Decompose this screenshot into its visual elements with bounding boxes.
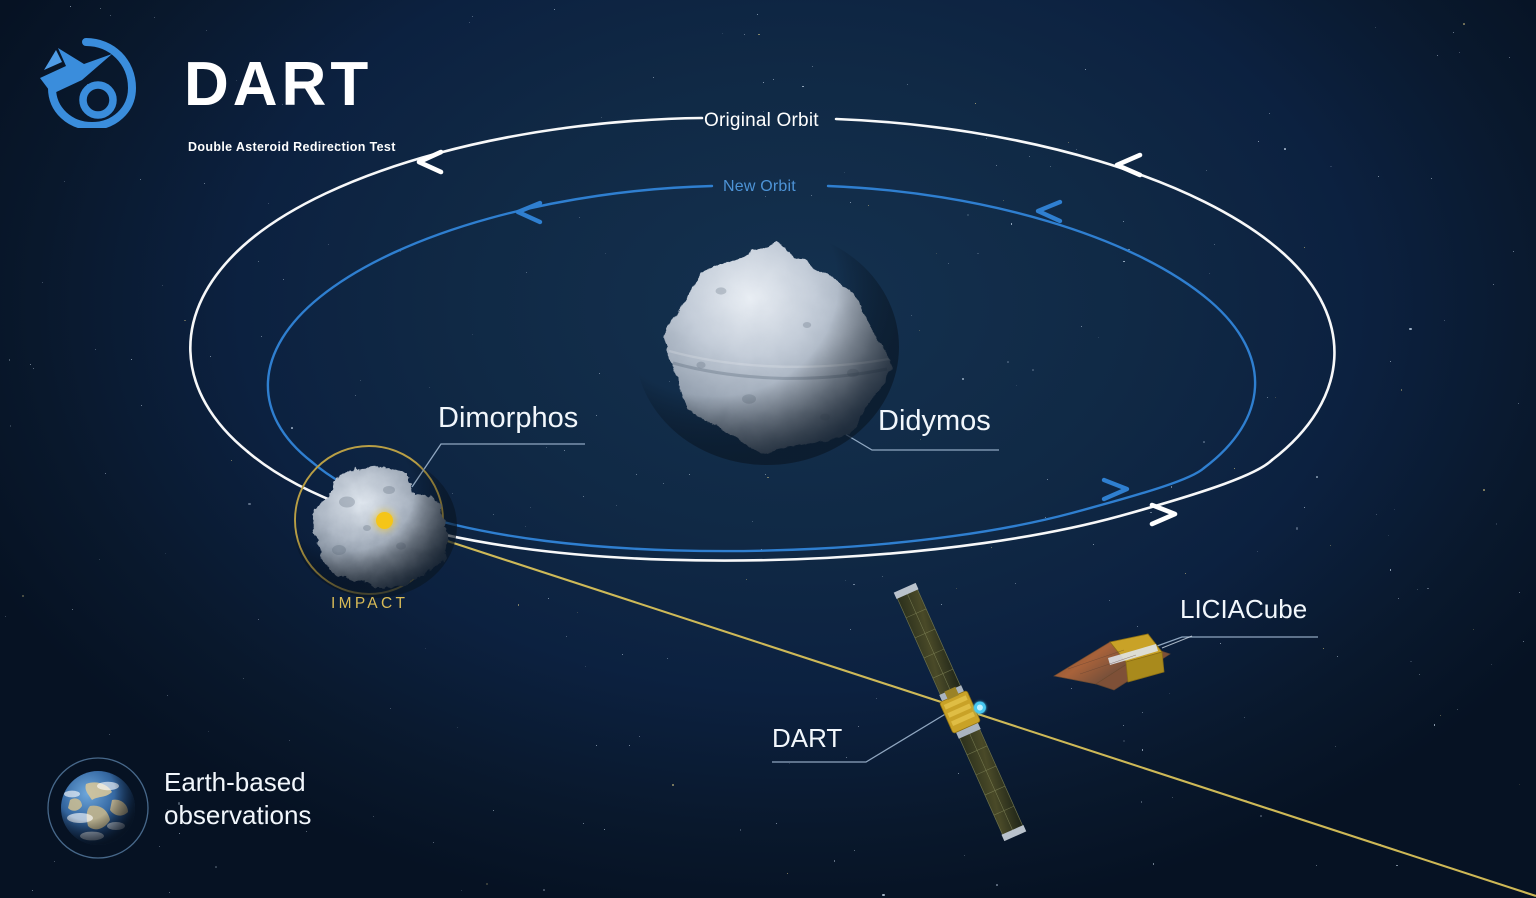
- label-original-orbit: Original Orbit: [704, 110, 819, 132]
- dart-spacecraft-orbit-icon: [36, 36, 140, 128]
- label-dimorphos: Dimorphos: [438, 402, 578, 435]
- label-new-orbit: New Orbit: [723, 178, 796, 196]
- label-earth-observations: Earth-based observations: [164, 766, 404, 833]
- earth-globe-icon: [48, 758, 148, 858]
- dimorphos-moonlet: [293, 454, 457, 598]
- dart-logo: DART Double Asteroid Redirection Test: [36, 28, 356, 136]
- logo-tagline: Double Asteroid Redirection Test: [188, 140, 396, 154]
- impact-point-icon: [376, 512, 393, 529]
- infographic-canvas: DART Double Asteroid Redirection Test Or…: [0, 0, 1536, 898]
- label-dart: DART: [772, 723, 842, 754]
- label-didymos: Didymos: [878, 405, 991, 438]
- logo-wordmark: DART: [184, 54, 372, 116]
- liciacube-icon: [1054, 634, 1192, 690]
- dart-spacecraft-icon: [891, 577, 1039, 842]
- label-impact: IMPACT: [331, 595, 408, 613]
- didymos-asteroid: [635, 229, 899, 465]
- label-liciacube: LICIACube: [1180, 594, 1307, 625]
